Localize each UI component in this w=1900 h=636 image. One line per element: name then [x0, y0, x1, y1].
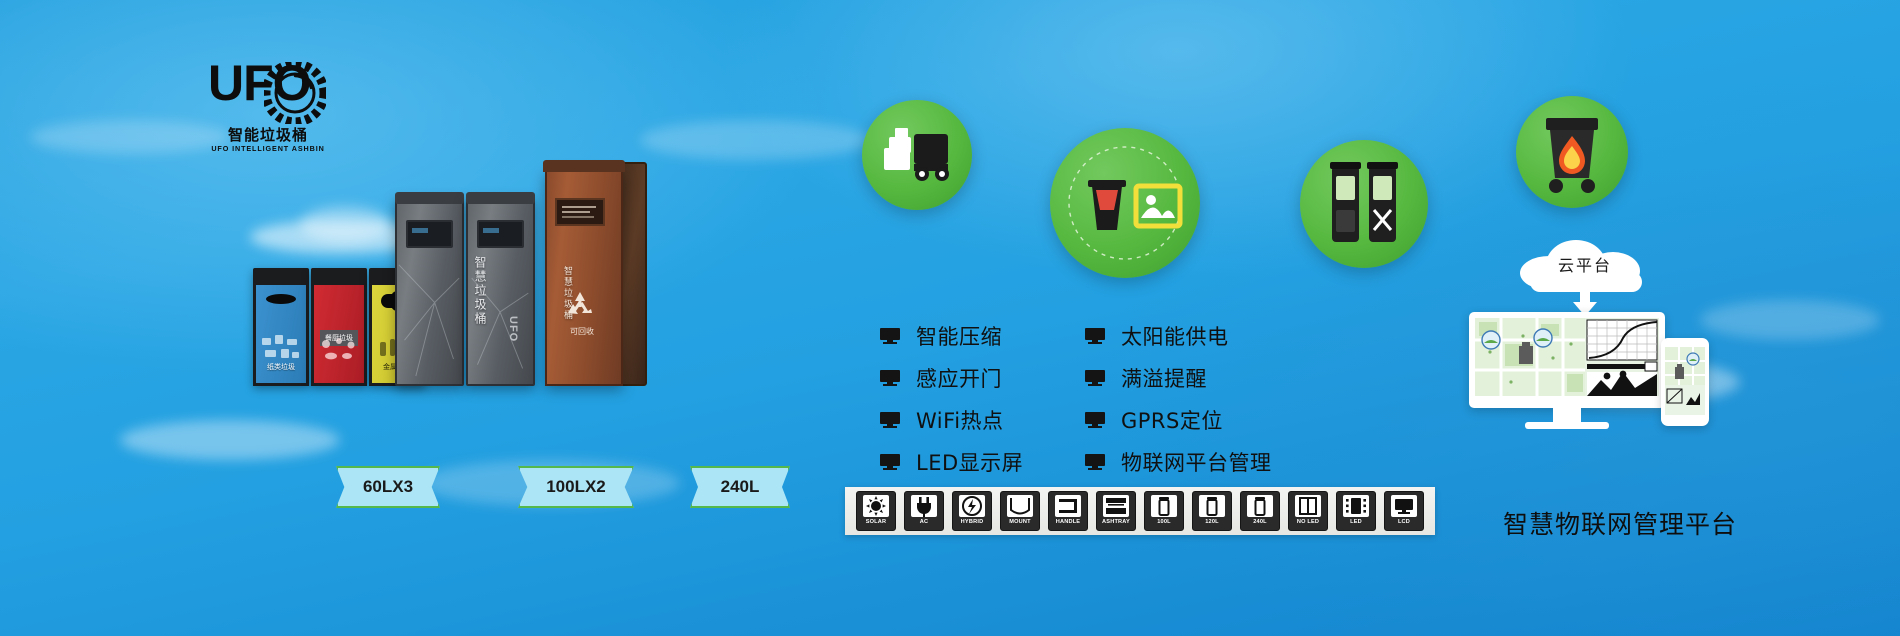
compaction-truck-icon — [862, 100, 972, 210]
option-label: LCD — [1398, 519, 1410, 525]
option-label: HYBRID — [961, 519, 984, 525]
option-label: 100L — [1157, 519, 1171, 525]
dashboard-map-chart-icon — [1475, 318, 1659, 396]
lcd-screen-icon — [1391, 495, 1417, 517]
feature-list-right: 太阳能供电 满溢提醒 GPRS定位 物联网平台管理 — [1085, 320, 1272, 488]
bin-screen — [555, 198, 605, 226]
feature-list-left: 智能压缩 感应开门 WiFi热点 LED显示屏 — [880, 320, 1023, 488]
capacity-ribbon-60lx3: 60LX3 — [336, 466, 440, 508]
bin-unit-kitchen: 餐厨垃圾 — [311, 268, 367, 386]
ashtray-icon — [1103, 495, 1129, 517]
power-plug-icon — [911, 495, 937, 517]
gear-ring-icon — [264, 62, 326, 124]
cloud-decoration — [640, 120, 870, 160]
mobile-dashboard-icon — [1665, 347, 1705, 415]
option-label: MOUNT — [1009, 519, 1031, 525]
option-icon-strip: SOLAR AC HYBRID MOUNT — [845, 487, 1435, 535]
option-label: NO LED — [1297, 519, 1319, 525]
cloud-platform-label: 云平台 — [1520, 252, 1650, 276]
monitor-bullet-icon — [880, 454, 900, 470]
feature-row: 物联网平台管理 — [1085, 446, 1272, 478]
monitor-bullet-icon — [1085, 370, 1105, 386]
feature-label: LED显示屏 — [916, 447, 1023, 477]
option-lcd[interactable]: LCD — [1384, 491, 1424, 531]
feature-row: WiFi热点 — [880, 404, 1023, 436]
fire-detection-icon — [1516, 96, 1628, 208]
brand-logo: UFO 智能垃圾桶 UFO INTELLIGENT ASHBIN — [208, 52, 328, 157]
feature-label: 智能压缩 — [916, 321, 1002, 351]
cloud-platform-illustration: 云平台 — [1455, 238, 1785, 448]
desktop-monitor — [1469, 312, 1665, 432]
monitor-bullet-icon — [880, 412, 900, 428]
option-label: SOLAR — [866, 519, 887, 525]
no-led-icon — [1295, 495, 1321, 517]
option-label: 120L — [1205, 519, 1219, 525]
bin-side-brand-grey: UFO — [507, 316, 519, 342]
option-led[interactable]: LED — [1336, 491, 1376, 531]
option-ashtray[interactable]: ASHTRAY — [1096, 491, 1136, 531]
option-100l[interactable]: 100L — [1144, 491, 1184, 531]
wall-mount-icon — [1007, 495, 1033, 517]
capacity-ribbon-100lx2: 100LX2 — [518, 466, 634, 508]
option-no-led[interactable]: NO LED — [1288, 491, 1328, 531]
monitor-bullet-icon — [880, 370, 900, 386]
option-ac[interactable]: AC — [904, 491, 944, 531]
cloud-decoration — [30, 120, 230, 154]
bin-side-text-grey: 智慧垃圾桶 — [471, 256, 487, 326]
option-label: 240L — [1253, 519, 1267, 525]
feature-row: 感应开门 — [880, 362, 1023, 394]
mobile-phone — [1661, 338, 1709, 426]
hybrid-power-icon — [959, 495, 985, 517]
option-label: HANDLE — [1056, 519, 1081, 525]
option-label: ASHTRAY — [1102, 519, 1130, 525]
monitor-bullet-icon — [1085, 412, 1105, 428]
fill-level-sensor-icon — [1050, 128, 1200, 278]
bin-unit-brown-240l: 智慧垃圾桶 可回收 — [545, 170, 645, 386]
feature-label: 感应开门 — [916, 363, 1002, 393]
feature-label: 满溢提醒 — [1121, 363, 1207, 393]
option-hybrid[interactable]: HYBRID — [952, 491, 992, 531]
feature-row: 满溢提醒 — [1085, 362, 1272, 394]
monitor-bullet-icon — [1085, 454, 1105, 470]
bin-unit-paper: 纸类垃圾 — [253, 268, 309, 386]
brand-name-en: UFO INTELLIGENT ASHBIN — [208, 144, 328, 153]
bin-recycle-label: 可回收 — [560, 326, 604, 337]
cloud-decoration — [300, 206, 390, 242]
bin-240l-icon — [1247, 495, 1273, 517]
phone-screen — [1665, 347, 1705, 415]
handle-icon — [1055, 495, 1081, 517]
brand-name-cn: 智能垃圾桶 — [208, 124, 328, 145]
cloud-decoration — [120, 420, 340, 460]
bin-set-double-grey: 智慧垃圾桶 UFO — [395, 196, 535, 386]
feature-circle-fill-level — [1050, 128, 1200, 278]
kitchen-waste-glyph-icon — [317, 332, 361, 366]
bin-unit-grey-left — [395, 196, 464, 386]
feature-label: 太阳能供电 — [1121, 321, 1229, 351]
paper-waste-glyph-icon — [259, 332, 303, 366]
feature-label: GPRS定位 — [1121, 405, 1223, 435]
sun-icon — [863, 495, 889, 517]
option-mount[interactable]: MOUNT — [1000, 491, 1040, 531]
monitor-bullet-icon — [1085, 328, 1105, 344]
feature-row: GPRS定位 — [1085, 404, 1272, 436]
option-handle[interactable]: HANDLE — [1048, 491, 1088, 531]
feature-circle-led-bins — [1300, 140, 1428, 268]
monitor-bullet-icon — [880, 328, 900, 344]
bin-120l-icon — [1199, 495, 1225, 517]
feature-circle-compaction — [862, 100, 972, 210]
recycle-icon — [563, 288, 597, 322]
option-label: AC — [920, 519, 928, 525]
bin-100l-icon — [1151, 495, 1177, 517]
feature-row: LED显示屏 — [880, 446, 1023, 478]
bin-label-paper: 纸类垃圾 — [267, 362, 295, 372]
feature-row: 智能压缩 — [880, 320, 1023, 352]
capacity-ribbon-240l: 240L — [690, 466, 790, 508]
dual-led-bin-icon — [1300, 140, 1428, 268]
option-240l[interactable]: 240L — [1240, 491, 1280, 531]
feature-circle-fire-detection — [1516, 96, 1628, 208]
surface-pattern-icon — [397, 246, 462, 378]
led-panel-icon — [1343, 495, 1369, 517]
feature-label: WiFi热点 — [916, 405, 1004, 435]
option-label: LED — [1350, 519, 1362, 525]
feature-row: 太阳能供电 — [1085, 320, 1272, 352]
platform-title: 智慧物联网管理平台 — [1440, 505, 1800, 541]
banner-stage: UFO 智能垃圾桶 UFO INTELLIGENT ASHBIN 纸类垃圾 — [0, 0, 1900, 636]
option-solar[interactable]: SOLAR — [856, 491, 896, 531]
monitor-screen — [1475, 318, 1659, 396]
option-120l[interactable]: 120L — [1192, 491, 1232, 531]
feature-label: 物联网平台管理 — [1121, 447, 1272, 477]
